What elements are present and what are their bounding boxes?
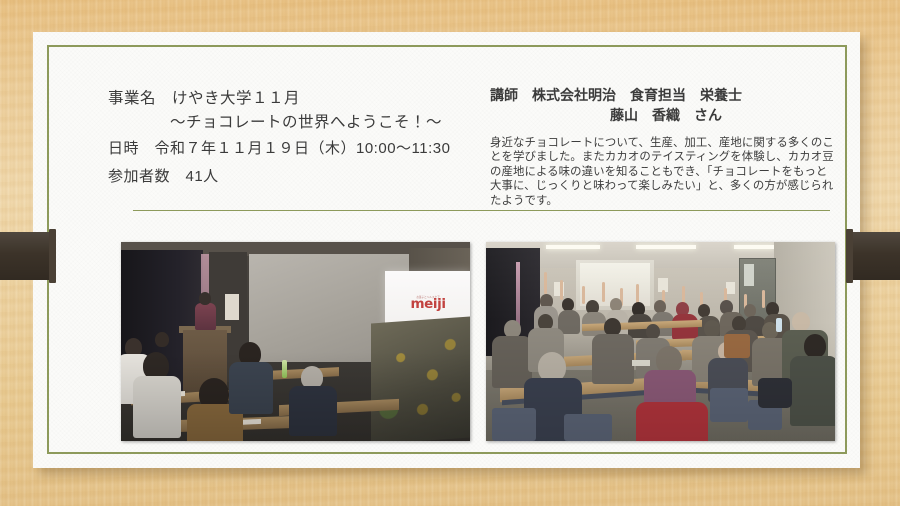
slide-stage: 事業名 けやき大学１１月 〜チョコレートの世界へようこそ！〜 日時 令和７年１１… bbox=[0, 0, 900, 506]
participants-line: 参加者数 41人 bbox=[108, 163, 480, 191]
program-title-line2: 〜チョコレートの世界へようこそ！〜 bbox=[108, 111, 480, 135]
horizontal-divider bbox=[133, 210, 830, 211]
ribbon-tab-right bbox=[846, 232, 900, 280]
lecturer-line-2: 藤山 香織 さん bbox=[490, 105, 835, 125]
report-paragraph: 身近なチョコレートについて、生産、加工、産地に関する多くのことを学びました。また… bbox=[490, 136, 835, 208]
card-content: 事業名 けやき大学１１月 〜チョコレートの世界へようこそ！〜 日時 令和７年１１… bbox=[80, 77, 839, 487]
slide-card: 事業名 けやき大学１１月 〜チョコレートの世界へようこそ！〜 日時 令和７年１１… bbox=[33, 32, 860, 468]
text-region: 事業名 けやき大学１１月 〜チョコレートの世界へようこそ！〜 日時 令和７年１１… bbox=[80, 77, 839, 210]
left-text-column: 事業名 けやき大学１１月 〜チョコレートの世界へようこそ！〜 日時 令和７年１１… bbox=[108, 87, 480, 191]
lecture-room-photo: お菓子とヘルスケア meiji bbox=[121, 242, 470, 441]
program-title-line1: 事業名 けやき大学１１月 bbox=[108, 87, 480, 111]
right-text-column: 講師 株式会社明治 食育担当 栄養士 藤山 香織 さん 身近なチョコレートについ… bbox=[490, 85, 835, 208]
event-date-line: 日時 令和７年１１月１９日（木）10:00〜11:30 bbox=[108, 135, 480, 163]
audience-photo bbox=[486, 242, 835, 441]
photo-row: お菓子とヘルスケア meiji bbox=[80, 242, 839, 442]
ribbon-tab-left bbox=[0, 232, 56, 280]
lecturer-line-1: 講師 株式会社明治 食育担当 栄養士 bbox=[490, 85, 835, 105]
